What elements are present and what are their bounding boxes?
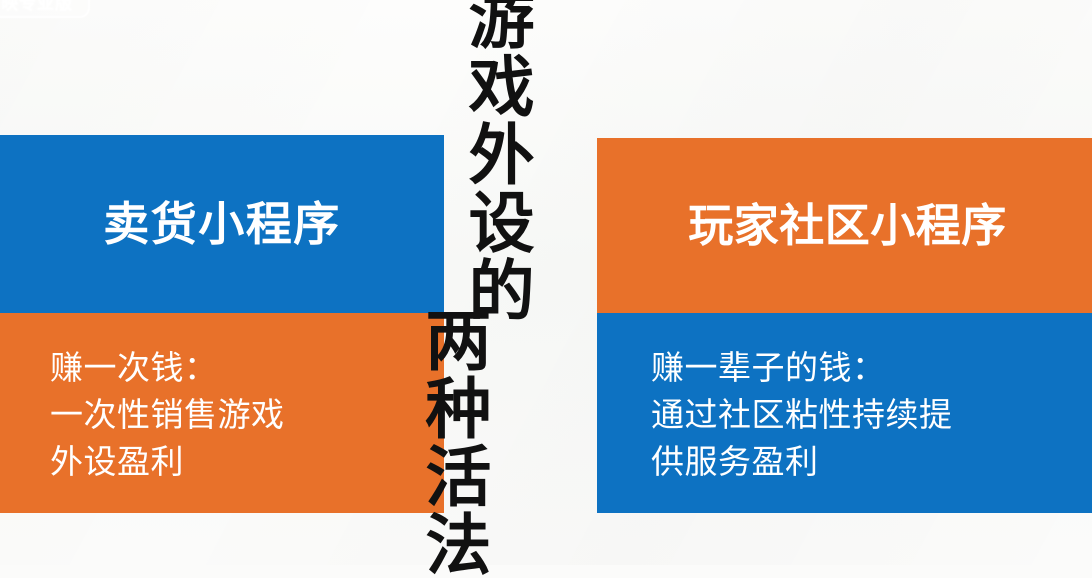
right-panel-title: 玩家社区小程序 (688, 203, 1007, 248)
left-panel-header: 卖货小程序 (0, 135, 444, 313)
right-panel-body-line-3: 供服务盈利 (651, 439, 1078, 486)
right-panel-header: 玩家社区小程序 (597, 138, 1092, 313)
left-panel-body-line-2: 一次性销售游戏 (50, 392, 424, 439)
left-panel-body: 赚一次钱： 一次性销售游戏 外设盈利 (0, 313, 444, 513)
right-comparison-panel: 玩家社区小程序 赚一辈子的钱： 通过社区粘性持续提 供服务盈利 (597, 138, 1092, 513)
left-panel-title: 卖货小程序 (103, 201, 341, 247)
right-panel-body-line-2: 通过社区粘性持续提 (651, 392, 1078, 439)
right-panel-body-line-1: 赚一辈子的钱： (651, 345, 1078, 392)
left-panel-body-line-3: 外设盈利 (50, 439, 424, 486)
left-panel-body-line-1: 赚一次钱： (50, 345, 424, 392)
right-panel-body: 赚一辈子的钱： 通过社区粘性持续提 供服务盈利 (597, 313, 1092, 513)
left-comparison-panel: 卖货小程序 赚一次钱： 一次性销售游戏 外设盈利 (0, 135, 444, 513)
